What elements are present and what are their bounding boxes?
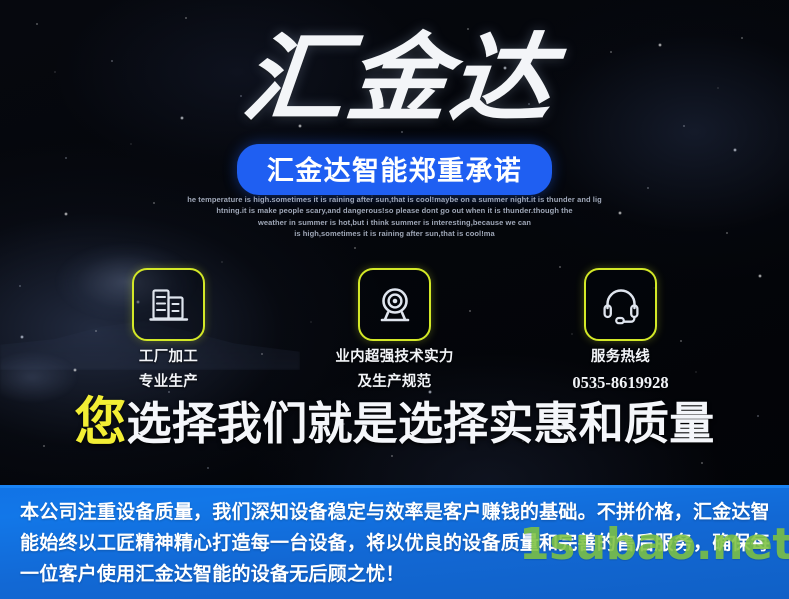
feature-caption-phone: 0535-8619928 — [572, 374, 668, 391]
feature-item-hotline: 服务热线 0535-8619928 — [537, 268, 705, 391]
english-blurb-line-3: weather in summer is hot,but i think sum… — [0, 217, 789, 228]
english-blurb: he temperature is high.sometimes it is r… — [0, 194, 789, 250]
footer-paragraph: 本公司注重设备质量，我们深知设备稳定与效率是客户赚钱的基础。不拼价格，汇金达智能… — [20, 497, 772, 590]
feature-caption-line1: 业内超强技术实力 — [335, 349, 453, 366]
promotional-banner: 汇金达 汇金达智能郑重承诺 he temperature is high.som… — [0, 0, 789, 599]
factory-buildings-icon — [147, 283, 191, 327]
brand-title: 汇金达 — [0, 18, 789, 140]
feature-list: 工厂加工 专业生产 业内超强技术实力 及生产规范 — [0, 268, 789, 386]
headline-pill-container: 汇金达智能郑重承诺 — [0, 147, 789, 191]
english-blurb-line-2: htning.it is make people scary,and dange… — [0, 205, 789, 216]
headline-pill: 汇金达智能郑重承诺 — [237, 144, 552, 195]
precision-target-machine-icon-box — [358, 268, 431, 341]
feature-caption-line1: 工厂加工 — [139, 349, 198, 366]
feature-caption-line2: 专业生产 — [139, 374, 198, 391]
headset-icon — [599, 283, 643, 327]
feature-item-technology: 业内超强技术实力 及生产规范 — [311, 268, 479, 391]
slogan-rest: 选择我们就是选择实惠和质量 — [127, 401, 715, 446]
feature-caption-line2: 及生产规范 — [358, 374, 432, 391]
precision-target-machine-icon — [373, 283, 417, 327]
english-blurb-line-1: he temperature is high.sometimes it is r… — [0, 194, 789, 205]
slogan-highlight: 您 — [75, 397, 127, 449]
main-slogan: 您 选择我们就是选择实惠和质量 — [0, 392, 789, 454]
factory-buildings-icon-box — [132, 268, 205, 341]
headset-icon-box — [584, 268, 657, 341]
feature-caption-line1: 服务热线 — [591, 349, 650, 366]
brand-title-text: 汇金达 — [231, 31, 558, 127]
footer-panel: 本公司注重设备质量，我们深知设备稳定与效率是客户赚钱的基础。不拼价格，汇金达智能… — [0, 485, 789, 599]
english-blurb-line-4: is high,sometimes it is raining after su… — [0, 228, 789, 239]
feature-item-factory: 工厂加工 专业生产 — [85, 268, 253, 391]
